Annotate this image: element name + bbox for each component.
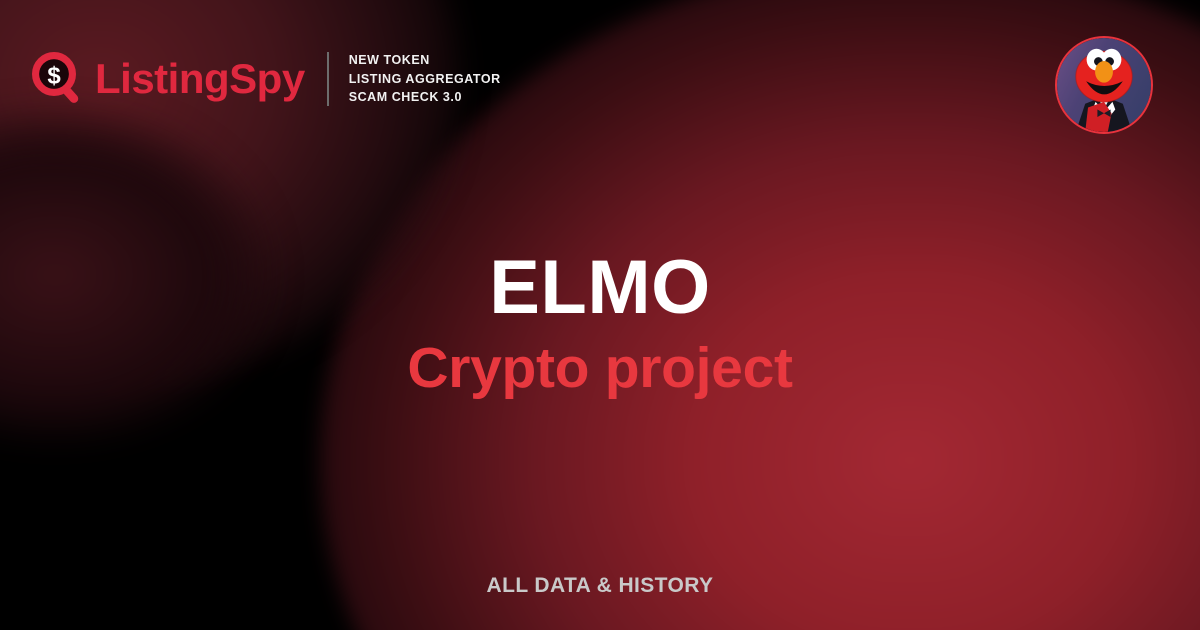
avatar[interactable] — [1055, 36, 1153, 134]
header-divider — [327, 52, 329, 106]
footer: ALL DATA & HISTORY — [0, 574, 1200, 598]
footer-text: ALL DATA & HISTORY — [487, 574, 714, 597]
page-title: ELMO — [0, 248, 1200, 328]
elmo-avatar-icon — [1057, 38, 1151, 132]
social-share-card: $ ListingSpy NEW TOKEN LISTING AGGREGATO… — [0, 0, 1200, 630]
header: $ ListingSpy NEW TOKEN LISTING AGGREGATO… — [32, 52, 501, 106]
brand-name: ListingSpy — [95, 58, 305, 100]
magnifier-dollar-icon: $ — [32, 52, 86, 106]
brand-logo[interactable]: $ ListingSpy — [32, 52, 305, 106]
page-subtitle: Crypto project — [0, 337, 1200, 401]
tagline-line-3: SCAM CHECK 3.0 — [349, 89, 501, 106]
brand-tagline: NEW TOKEN LISTING AGGREGATOR SCAM CHECK … — [349, 52, 501, 106]
svg-text:$: $ — [47, 63, 61, 90]
tagline-line-1: NEW TOKEN — [349, 52, 501, 69]
hero-block: ELMO Crypto project — [0, 248, 1200, 401]
tagline-line-2: LISTING AGGREGATOR — [349, 71, 501, 88]
